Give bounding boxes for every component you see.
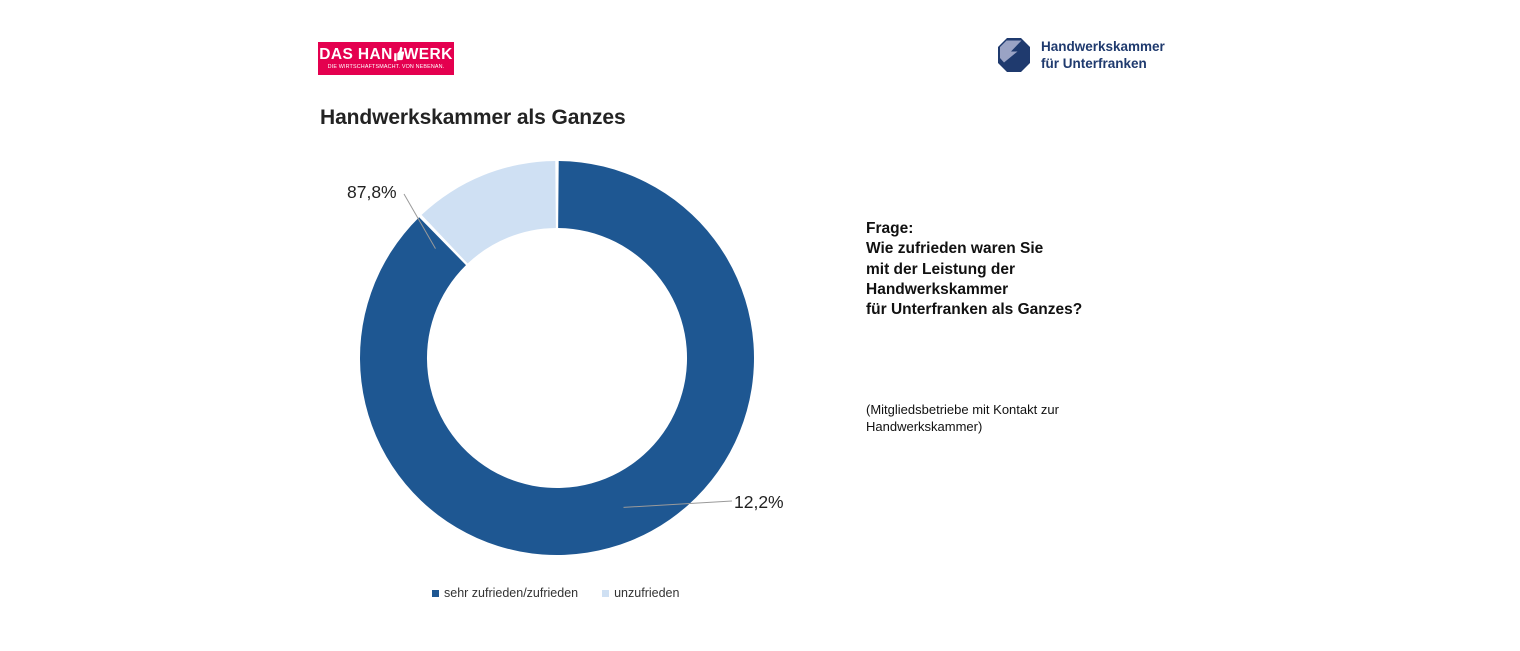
question-line-2: Wie zufrieden waren Sie [866,239,1196,259]
das-handwerk-logo: DAS HAN WERK DIE WIRTSCHAFTSMACHT. VON N… [318,42,454,75]
sample-note-line-2: Handwerkskammer) [866,418,1166,435]
sample-note: (Mitgliedsbetriebe mit Kontakt zur Handw… [866,401,1166,436]
legend-item-sehr-zufrieden: sehr zufrieden/zufrieden [432,586,578,600]
legend-swatch-unzufrieden [602,590,609,597]
octagon-mark-icon [997,37,1031,73]
data-label-unzufrieden: 12,2% [734,492,784,513]
das-handwerk-tagline: DIE WIRTSCHAFTSMACHT. VON NEBENAN. [328,65,445,70]
data-label-sehr-zufrieden: 87,8% [347,182,397,203]
hwk-logo-line2: für Unterfranken [1041,55,1165,72]
hwk-logo-text: Handwerkskammer für Unterfranken [1041,38,1165,73]
thumbs-up-icon [393,47,404,62]
legend-item-unzufrieden: unzufrieden [602,586,679,600]
sample-note-line-1: (Mitgliedsbetriebe mit Kontakt zur [866,401,1166,418]
das-handwerk-wordmark: DAS HAN WERK [319,47,452,63]
donut-chart [340,155,790,565]
legend-label-sehr-zufrieden: sehr zufrieden/zufrieden [444,586,578,600]
legend-label-unzufrieden: unzufrieden [614,586,679,600]
question-line-3: mit der Leistung der [866,260,1196,280]
das-handwerk-wordmark-after: WERK [404,47,453,63]
legend-swatch-sehr-zufrieden [432,590,439,597]
slide-canvas: DAS HAN WERK DIE WIRTSCHAFTSMACHT. VON N… [0,0,1520,651]
question-line-4: Handwerkskammer [866,280,1196,300]
question-line-1: Frage: [866,219,1196,239]
page-title: Handwerkskammer als Ganzes [320,106,626,130]
question-block: Frage: Wie zufrieden waren Sie mit der L… [866,219,1196,320]
chart-legend: sehr zufrieden/zufrieden unzufrieden [432,586,679,600]
question-line-5: für Unterfranken als Ganzes? [866,300,1196,320]
hwk-logo-line1: Handwerkskammer [1041,38,1165,55]
hwk-unterfranken-logo: Handwerkskammer für Unterfranken [997,37,1165,73]
das-handwerk-wordmark-before: DAS HAN [319,47,392,63]
